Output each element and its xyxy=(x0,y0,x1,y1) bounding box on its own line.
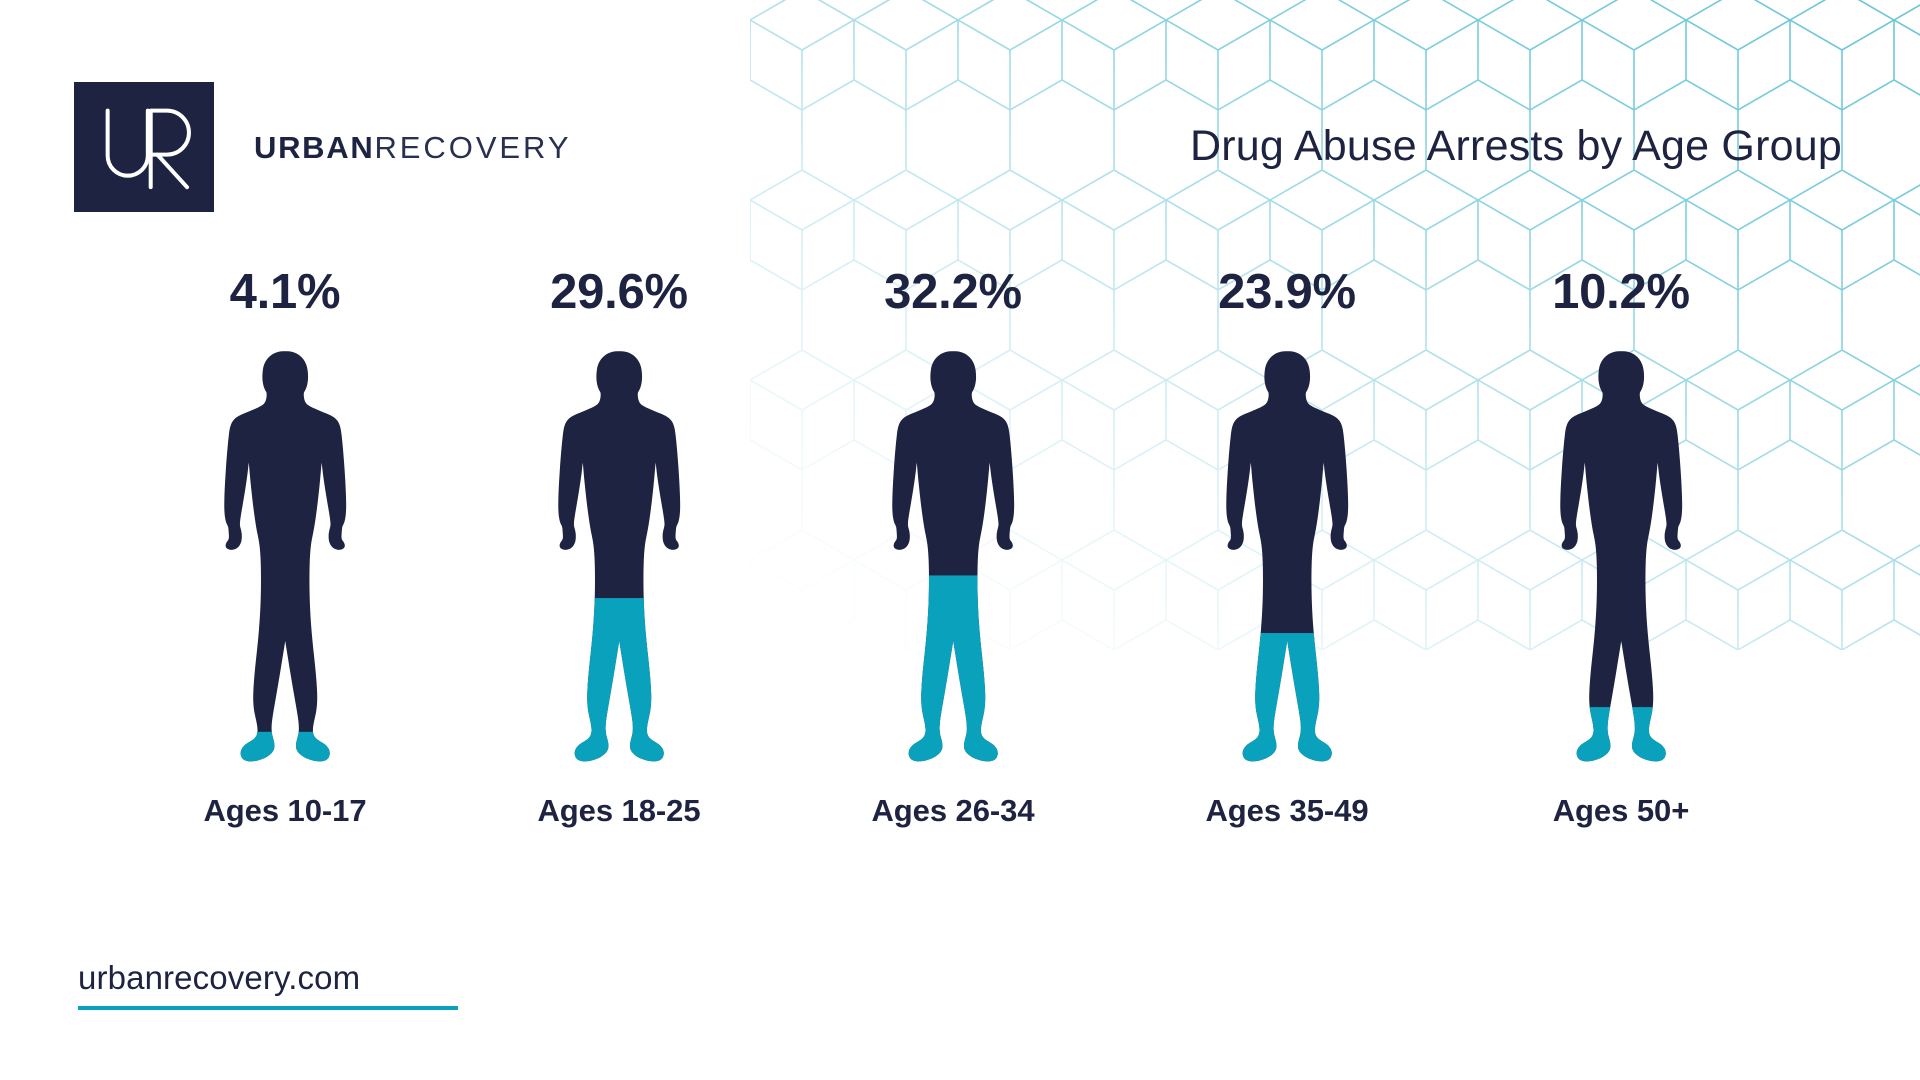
age-group-label: Ages 50+ xyxy=(1553,793,1690,829)
age-group-label: Ages 18-25 xyxy=(537,793,700,829)
male-silhouette-icon xyxy=(878,349,1028,767)
page-title: Drug Abuse Arrests by Age Group xyxy=(1190,122,1842,171)
teal-fill-level xyxy=(878,575,1028,767)
figure-chart: 4.1%Ages 10-1729.6%Ages 18-2532.2%Ages 2… xyxy=(118,268,1818,848)
percentage-label: 23.9% xyxy=(1218,268,1356,317)
brand-wordmark: URBANRECOVERY xyxy=(254,132,571,163)
male-silhouette-icon xyxy=(210,349,360,767)
wordmark-bold: URBAN xyxy=(254,130,374,165)
figure-column: 10.2%Ages 50+ xyxy=(1454,268,1788,829)
teal-fill-level xyxy=(1212,633,1362,767)
ur-monogram-icon xyxy=(74,82,214,212)
infographic-canvas: URBANRECOVERY Drug Abuse Arrests by Age … xyxy=(0,0,1920,1080)
age-group-label: Ages 35-49 xyxy=(1205,793,1368,829)
website-url-text: urbanrecovery.com xyxy=(78,960,458,996)
figure-column: 32.2%Ages 26-34 xyxy=(786,268,1120,829)
age-group-label: Ages 10-17 xyxy=(203,793,366,829)
website-underline-rule xyxy=(78,1006,458,1010)
website-link[interactable]: urbanrecovery.com xyxy=(78,960,458,1010)
male-silhouette-icon xyxy=(1212,349,1362,767)
percentage-label: 10.2% xyxy=(1552,268,1690,317)
brand-logo[interactable]: URBANRECOVERY xyxy=(74,82,571,212)
percentage-label: 32.2% xyxy=(884,268,1022,317)
teal-fill-level xyxy=(544,598,694,767)
percentage-label: 29.6% xyxy=(550,268,688,317)
teal-fill-level xyxy=(1546,707,1696,767)
figure-column: 29.6%Ages 18-25 xyxy=(452,268,786,829)
percentage-label: 4.1% xyxy=(230,268,341,317)
age-group-label: Ages 26-34 xyxy=(871,793,1034,829)
figure-column: 23.9%Ages 35-49 xyxy=(1120,268,1454,829)
teal-fill-level xyxy=(210,732,360,767)
male-silhouette-icon xyxy=(544,349,694,767)
figure-column: 4.1%Ages 10-17 xyxy=(118,268,452,829)
male-silhouette-icon xyxy=(1546,349,1696,767)
wordmark-light: RECOVERY xyxy=(374,130,571,165)
